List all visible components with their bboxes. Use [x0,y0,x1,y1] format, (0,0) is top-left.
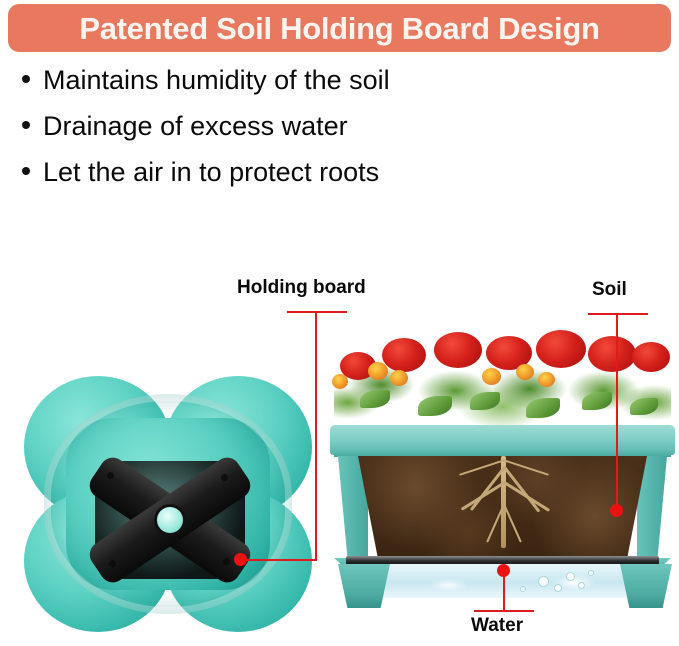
flower-bloom-red [434,332,482,368]
planter-rim-lip [334,448,671,457]
flower-bloom-orange [390,370,408,386]
feature-list: Maintains humidity of the soil Drainage … [22,66,542,204]
header-banner: Patented Soil Holding Board Design [8,4,671,52]
plant-root [461,481,507,511]
planter-cross-section [330,330,675,595]
flower-bloom-red [632,342,670,372]
water-leader-stem [503,571,505,611]
bullet-icon [22,75,30,83]
bullet-icon [22,121,30,129]
holding-board-marker-dot [234,553,247,566]
water-marker-dot [497,564,510,577]
flower-bloom-orange [332,374,348,389]
flower-bloom-red [382,338,426,372]
feature-text: Let the air in to protect roots [43,158,379,188]
holding-board-insert [93,452,247,588]
list-item: Let the air in to protect roots [22,158,542,204]
water-bubble [520,586,526,592]
board-vent-hole [109,560,116,567]
holding-board-leader-cap [287,311,347,313]
flower-bloom-orange [538,372,555,387]
planter-leg [620,564,672,608]
water-bubble [588,570,594,576]
soil-marker-dot [610,504,623,517]
holding-board-leader-arm [243,559,317,561]
water-bubble [566,572,575,581]
board-center-drain-hole [157,507,183,533]
board-vent-hole [223,558,230,565]
flower-bloom-orange [368,362,388,380]
soil-leader-stem [616,313,618,511]
feature-text: Maintains humidity of the soil [43,66,390,96]
flower-bloom-orange [516,364,534,380]
flower-bloom-orange [482,368,501,385]
callout-label-soil: Soil [592,279,627,301]
flower-bloom-red [588,336,636,372]
list-item: Drainage of excess water [22,112,542,158]
board-vent-hole [107,472,114,479]
plant-root [502,465,540,513]
water-bubble [554,584,562,592]
planter-leg [338,564,390,608]
flower-bloom-red [536,330,586,368]
feature-text: Drainage of excess water [43,112,348,142]
board-vent-hole [221,474,228,481]
page-title: Patented Soil Holding Board Design [79,13,599,44]
callout-label-water: Water [471,615,523,637]
callout-label-holding-board: Holding board [237,277,366,299]
soil-leader-cap [588,313,648,315]
water-bubble [578,582,585,589]
bullet-icon [22,167,30,175]
holding-board-leader-stem [315,311,317,560]
water-bubble [538,576,549,587]
product-photo-top-view [18,372,318,634]
soil-layer [358,456,647,560]
plant-root [503,481,550,512]
list-item: Maintains humidity of the soil [22,66,542,112]
